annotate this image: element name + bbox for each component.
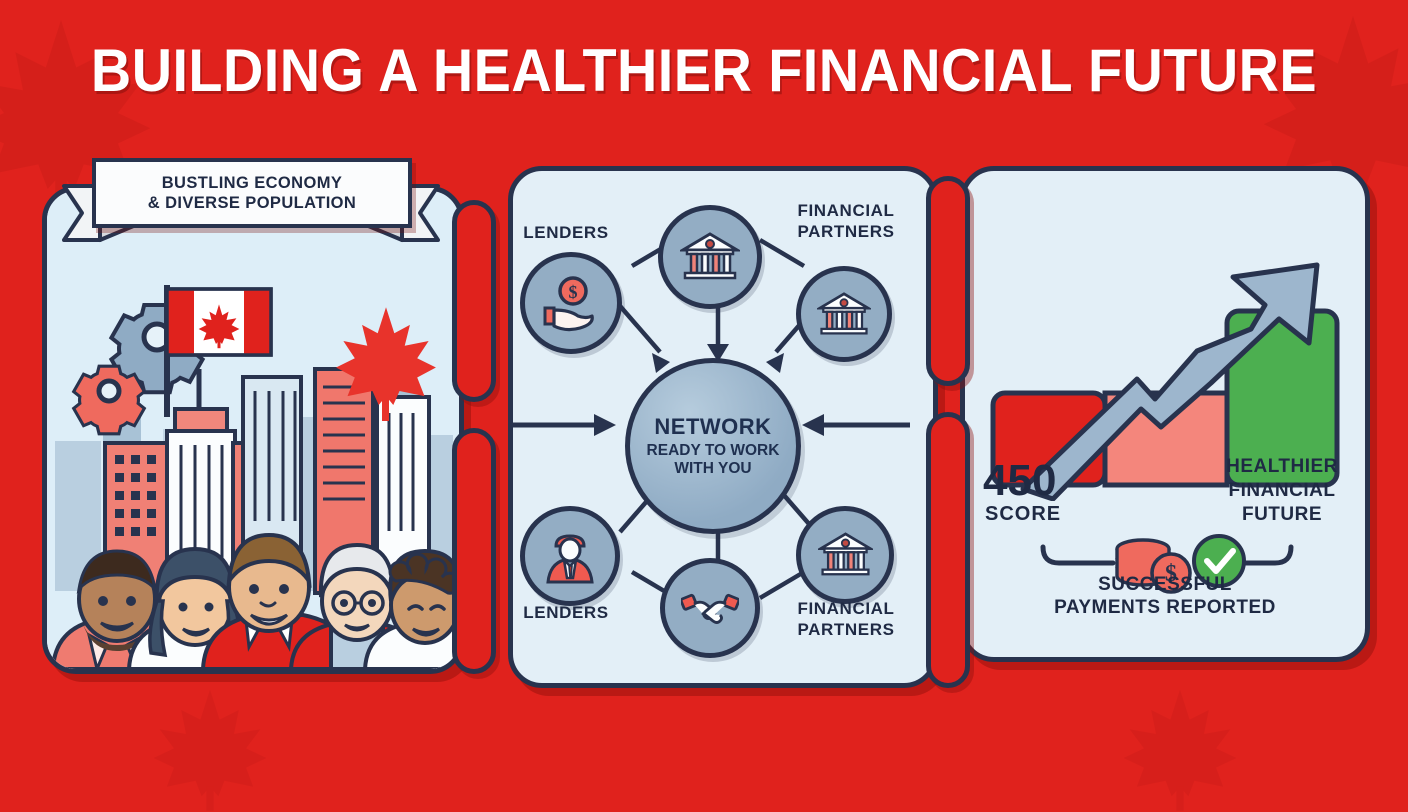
bank-icon [818,531,873,579]
people-group [47,489,459,669]
payments-line-2: PAYMENTS REPORTED [1005,596,1325,619]
arrow-left-into-hub [508,410,618,440]
node-label-lenders-top: LENDERS [508,222,624,243]
maple-leaf-icon [331,301,441,426]
puzzle-notch-right-upper [926,176,970,386]
node-partners-bottom[interactable] [796,506,894,604]
panel-bustling-economy [42,186,464,674]
page-title: BUILDING A HEALTHIER FINANCIAL FUTURE [49,36,1358,105]
maple-leaf-watermark-bottom-right [1120,686,1240,812]
bank-icon [680,231,740,283]
node-label-partners-bottom-line1: FINANCIAL [776,598,916,619]
node-lenders-top[interactable]: $ [520,252,622,354]
payments-line-1: SUCCESSFUL [1005,573,1325,596]
person-suit-icon [542,528,598,584]
left-scene [47,191,459,669]
hub-title: NETWORK [654,414,771,440]
hub-subtitle: READY TO WORK WITH YOU [647,442,780,478]
outcome-line-2: FINANCIAL [1207,479,1357,503]
ribbon-banner: BUSTLING ECONOMY & DIVERSE POPULATION [56,158,446,244]
node-lenders-bottom[interactable] [520,506,620,606]
node-label-partners-top: FINANCIAL PARTNERS [776,200,916,242]
hub-subtitle-line2: WITH YOU [647,460,780,478]
infographic-canvas: BUILDING A HEALTHIER FINANCIAL FUTURE [0,0,1408,768]
gear-small-icon [55,337,165,447]
network-hub[interactable]: NETWORK READY TO WORK WITH YOU [625,358,801,534]
banner-line-1: BUSTLING ECONOMY [162,173,343,193]
money-hand-icon: $ [542,274,600,332]
maple-leaf-watermark-bottom-left [150,686,270,812]
canada-flag-icon [155,277,295,427]
score-value: 450 [983,459,1056,503]
node-label-lenders-bottom: LENDERS [508,602,624,623]
puzzle-notch-left-upper [452,200,496,402]
payments-label: SUCCESSFUL PAYMENTS REPORTED [1005,573,1325,619]
node-label-partners-top-line1: FINANCIAL [776,200,916,221]
hub-subtitle-line1: READY TO WORK [647,442,780,460]
outcome-line-1: HEALTHIER [1207,455,1357,479]
svg-text:$: $ [569,282,578,302]
puzzle-notch-left-lower [452,428,496,674]
banner-line-2: & DIVERSE POPULATION [148,193,356,213]
arrow-right-into-hub [800,410,910,440]
handshake-icon [681,588,739,628]
node-label-partners-bottom-line2: PARTNERS [776,619,916,640]
bank-icon [817,291,871,338]
node-label-partners-top-line2: PARTNERS [776,221,916,242]
banner-label: BUSTLING ECONOMY & DIVERSE POPULATION [92,158,412,228]
outcome-label: HEALTHIER FINANCIAL FUTURE [1207,455,1357,527]
node-label-partners-bottom: FINANCIAL PARTNERS [776,598,916,640]
panel-healthier-future: 450 SCORE HEALTHIER FINANCIAL FUTURE $ [960,166,1370,662]
puzzle-notch-right-lower [926,412,970,688]
node-handshake-bottom[interactable] [660,558,760,658]
node-partners-top[interactable] [796,266,892,362]
node-bank-top[interactable] [658,205,762,309]
